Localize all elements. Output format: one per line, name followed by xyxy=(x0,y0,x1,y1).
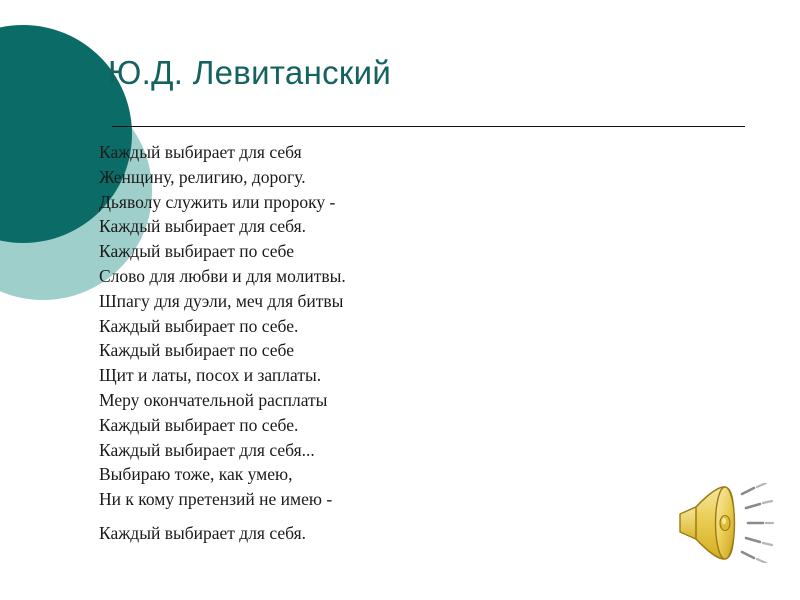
poem-line: Выбираю тоже, как умею, xyxy=(99,462,719,487)
speaker-sound-icon[interactable] xyxy=(676,483,774,563)
poem-line: Ни к кому претензий не имею - xyxy=(99,487,719,512)
poem-line: Слово для любви и для молитвы. xyxy=(99,264,719,289)
poem-line: Каждый выбирает по себе. xyxy=(99,413,719,438)
poem-line: Каждый выбирает по себе xyxy=(99,239,719,264)
poem-line: Щит и латы, посох и заплаты. xyxy=(99,363,719,388)
slide-canvas: Ю.Д. Левитанский Каждый выбирает для себ… xyxy=(0,0,800,600)
poem-line: Меру окончательной расплаты xyxy=(99,388,719,413)
poem-line: Каждый выбирает по себе. xyxy=(99,314,719,339)
poem-line: Женщину, религию, дорогу. xyxy=(99,165,719,190)
poem-line: Каждый выбирает для себя. xyxy=(99,214,719,239)
poem-line: Шпагу для дуэли, меч для битвы xyxy=(99,289,719,314)
poem-line: Дьяволу служить или пророку - xyxy=(99,190,719,215)
poem-line: Каждый выбирает по себе xyxy=(99,338,719,363)
poem-line: Каждый выбирает для себя. xyxy=(99,521,719,546)
poem-line: Каждый выбирает для себя... xyxy=(99,438,719,463)
title-divider xyxy=(112,126,745,127)
page-title: Ю.Д. Левитанский xyxy=(108,52,391,94)
poem-line: Каждый выбирает для себя xyxy=(99,140,719,165)
poem-text-block: Каждый выбирает для себя Женщину, религи… xyxy=(99,140,719,546)
